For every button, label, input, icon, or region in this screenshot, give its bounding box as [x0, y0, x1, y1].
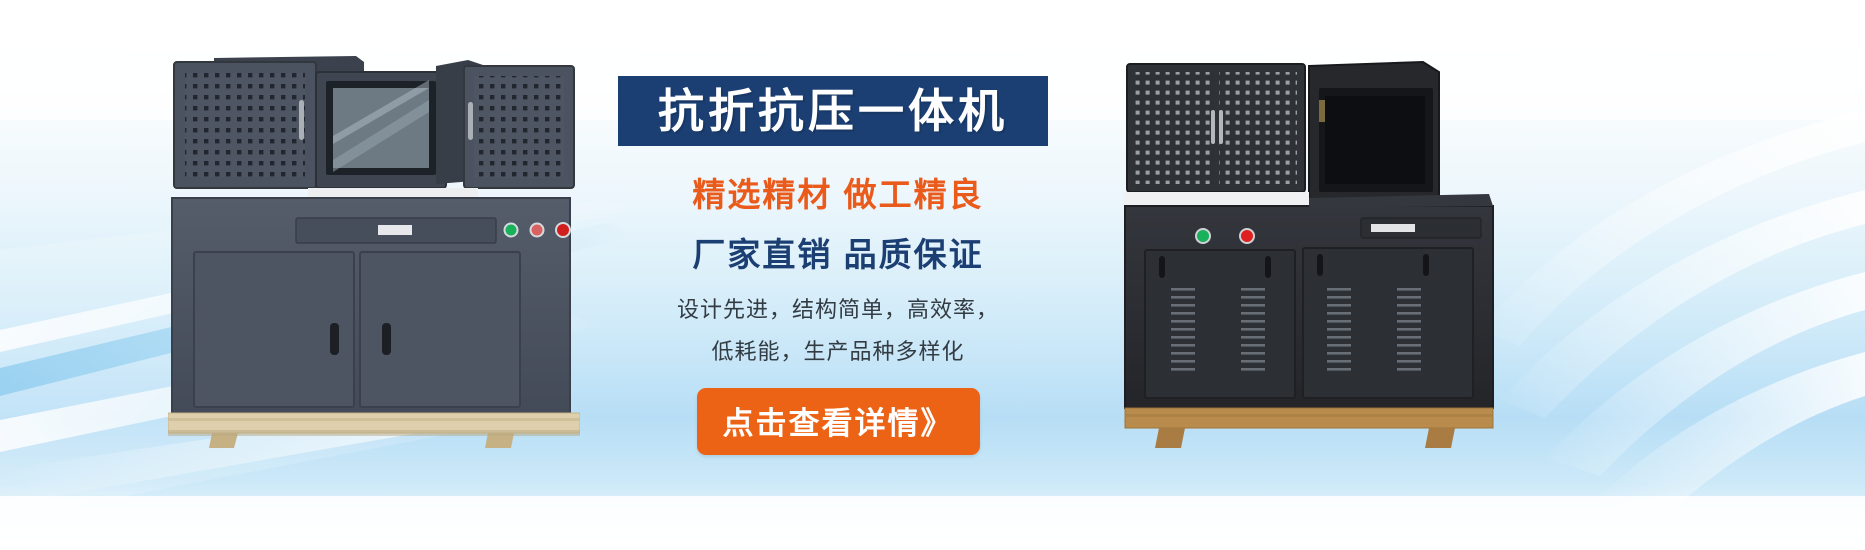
product-image-left: [168, 48, 580, 448]
promo-banner: 抗折抗压一体机 精选精材 做工精良 厂家直销 品质保证 设计先进，结构简单，高效…: [0, 0, 1865, 550]
right-door-handle: [468, 102, 473, 140]
headline-text: 抗折抗压一体机: [658, 88, 1008, 134]
description-line-2: 低耗能，生产品种多样化: [618, 334, 1058, 366]
upper-handle-left: [1211, 110, 1215, 144]
console-drawer-label: [1371, 224, 1415, 232]
right-door-perforation: [474, 76, 564, 178]
pallet-top: [1125, 408, 1493, 428]
lower-handle-left: [330, 323, 339, 355]
handle-right-b: [1423, 254, 1429, 276]
upper-handle-right: [1219, 110, 1223, 144]
monitor-screen: [1325, 96, 1425, 184]
lower-door-right: [1303, 248, 1473, 398]
counter-strip: [1123, 192, 1309, 206]
description-line-1: 设计先进，结构简单，高效率，: [618, 292, 1058, 324]
indicator-amber: [531, 224, 544, 237]
indicator-green: [505, 224, 518, 237]
lower-handle-right: [382, 323, 391, 355]
pallet-seam: [1125, 414, 1493, 417]
view-details-button[interactable]: 点击查看详情》: [697, 388, 980, 455]
pallet-leg-right: [1423, 428, 1455, 448]
indicator-red: [556, 223, 570, 237]
subheadline-orange: 精选精材 做工精良: [618, 168, 1058, 216]
upper-perforation-left: [1135, 72, 1215, 184]
left-door-perforation: [185, 73, 305, 177]
pallet-seam: [168, 418, 580, 421]
subheadline-blue: 厂家直销 品质保证: [618, 228, 1058, 276]
monitor-connector-strip: [1319, 100, 1325, 122]
drawer-label: [378, 225, 412, 235]
machine-right-svg: [1123, 48, 1495, 448]
indicator-red: [1240, 229, 1254, 243]
cta-container: 点击查看详情》: [618, 388, 1058, 455]
handle-left-b: [1265, 256, 1271, 278]
banner-copy-block: 抗折抗压一体机 精选精材 做工精良 厂家直销 品质保证 设计先进，结构简单，高效…: [618, 76, 1058, 476]
handle-right-a: [1317, 254, 1323, 276]
pallet-leg-left: [1153, 428, 1185, 448]
upper-perforation-right: [1219, 72, 1297, 184]
product-image-right: [1123, 48, 1495, 448]
left-door-handle: [299, 100, 304, 140]
handle-left-a: [1159, 256, 1165, 278]
machine-left-svg: [168, 48, 580, 448]
lower-door-left: [1145, 250, 1295, 398]
pallet-shadow: [168, 430, 580, 436]
headline-bar: 抗折抗压一体机: [618, 76, 1048, 146]
bottom-fade: [0, 496, 1865, 550]
indicator-green: [1196, 229, 1210, 243]
